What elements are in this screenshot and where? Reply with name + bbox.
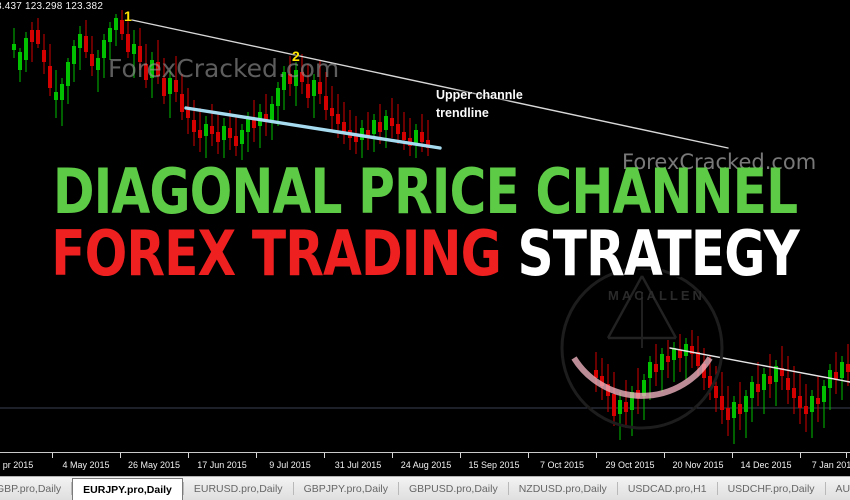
upper-channel-trendline[interactable] — [132, 20, 728, 148]
date-axis-label: 24 Aug 2015 — [401, 460, 452, 470]
candle-body — [204, 124, 208, 136]
candle-body — [600, 376, 604, 386]
chart-tab-label: EURJPY.pro,Daily — [83, 484, 172, 496]
candle-body — [354, 136, 358, 142]
candle-body — [336, 114, 340, 124]
candle-body — [666, 356, 670, 362]
candle-body — [636, 390, 640, 398]
candle-body — [180, 94, 184, 112]
chart-tab-audnzd[interactable]: AUDNZD.pro,Daily — [826, 477, 850, 500]
date-axis-tick — [800, 453, 801, 458]
candle-body — [54, 92, 58, 100]
date-axis-tick — [460, 453, 461, 458]
candle-body — [714, 386, 718, 398]
candle-body — [750, 382, 754, 398]
date-axis-label: 7 Oct 2015 — [540, 460, 584, 470]
chart-tab-gbp[interactable]: GBP.pro,Daily — [0, 477, 71, 500]
date-axis-label: 20 Nov 2015 — [672, 460, 723, 470]
chart-tab-label: AUDNZD.pro,Daily — [836, 483, 850, 495]
chart-tab-bar[interactable]: GBP.pro,DailyEURJPY.pro,DailyEURUSD.pro,… — [0, 476, 850, 500]
candle-body — [276, 88, 280, 106]
candle-body — [402, 132, 406, 140]
candle-body — [642, 380, 646, 396]
trendline-annotation-line-2: trendline — [436, 104, 523, 122]
date-axis-label: 29 Oct 2015 — [605, 460, 654, 470]
chart-tab-gbpusd[interactable]: GBPUSD.pro,Daily — [399, 477, 508, 500]
candle-body — [804, 406, 808, 414]
candle-body — [822, 386, 826, 402]
price-chart-canvas[interactable]: MACALLEN 3.437 123.298 123.382 1 2 Upper… — [0, 0, 850, 452]
candle-body — [228, 128, 232, 138]
date-axis-tick — [528, 453, 529, 458]
date-axis-label: pr 2015 — [3, 460, 34, 470]
wave-point-label-1: 1 — [124, 8, 132, 24]
candle-body — [324, 96, 328, 110]
candle-body — [306, 84, 310, 98]
date-axis-tick — [324, 453, 325, 458]
candle-body — [192, 120, 196, 132]
candle-body — [168, 78, 172, 94]
candle-body — [732, 402, 736, 418]
candle-body — [42, 50, 46, 62]
candle-body — [726, 408, 730, 420]
candle-body — [420, 132, 424, 142]
candle-body — [240, 130, 244, 144]
candlestick-series — [0, 0, 850, 452]
candle-body — [846, 364, 850, 372]
candle-body — [234, 136, 238, 146]
candle-body — [318, 82, 322, 94]
date-axis-label: 31 Jul 2015 — [335, 460, 382, 470]
candle-body — [84, 36, 88, 52]
candle-body — [672, 348, 676, 360]
candle-body — [810, 396, 814, 412]
wave-point-label-2: 2 — [292, 48, 300, 64]
candle-body — [18, 52, 22, 70]
candle-body — [24, 38, 28, 60]
candle-body — [762, 374, 766, 390]
date-axis-tick — [596, 453, 597, 458]
candle-body — [744, 396, 748, 412]
candle-body — [102, 40, 106, 58]
candle-body — [720, 396, 724, 410]
candle-body — [618, 400, 622, 414]
candle-body — [624, 402, 628, 412]
candle-body — [150, 60, 154, 78]
candle-body — [222, 126, 226, 140]
chart-tab-label: USDCAD.pro,H1 — [628, 483, 707, 495]
candle-body — [312, 80, 316, 96]
candle-body — [60, 84, 64, 100]
candle-body — [144, 64, 148, 80]
candle-body — [816, 398, 820, 404]
candle-body — [252, 120, 256, 128]
candle-body — [372, 120, 376, 134]
candle-body — [114, 18, 118, 30]
chart-tab-label: GBPUSD.pro,Daily — [409, 483, 498, 495]
date-axis-label: 9 Jul 2015 — [269, 460, 311, 470]
candle-body — [708, 376, 712, 388]
candle-body — [330, 108, 334, 116]
date-axis-label: 15 Sep 2015 — [468, 460, 519, 470]
ohlc-readout: 3.437 123.298 123.382 — [0, 1, 103, 12]
candle-body — [72, 46, 76, 64]
date-axis-label: 26 May 2015 — [128, 460, 180, 470]
candle-body — [174, 80, 178, 92]
candle-body — [390, 118, 394, 126]
candle-body — [78, 34, 82, 48]
chart-tab-label: GBPJPY.pro,Daily — [304, 483, 388, 495]
candle-body — [702, 364, 706, 378]
date-axis-tick — [188, 453, 189, 458]
chart-tab-nzdusd[interactable]: NZDUSD.pro,Daily — [509, 477, 617, 500]
candle-body — [660, 354, 664, 370]
candle-body — [840, 362, 844, 378]
candle-body — [414, 130, 418, 144]
candle-body — [768, 376, 772, 384]
candle-body — [36, 30, 40, 44]
chart-tab-eurjpy[interactable]: EURJPY.pro,Daily — [72, 478, 183, 500]
date-axis-tick — [846, 453, 847, 458]
candle-body — [756, 384, 760, 392]
date-axis-tick — [52, 453, 53, 458]
trendline-annotation: Upper channle trendline — [436, 86, 523, 122]
chart-tab-label: GBP.pro,Daily — [0, 483, 61, 495]
candle-body — [162, 78, 166, 96]
candle-body — [108, 28, 112, 42]
candle-body — [678, 350, 682, 358]
candle-body — [786, 378, 790, 390]
chart-tab-label: USDCHF.pro,Daily — [728, 483, 815, 495]
candle-body — [630, 392, 634, 410]
date-axis-tick — [392, 453, 393, 458]
candle-body — [186, 110, 190, 118]
candle-body — [126, 34, 130, 52]
candle-body — [90, 54, 94, 66]
chart-tab-label: EURUSD.pro,Daily — [194, 483, 283, 495]
candle-body — [606, 384, 610, 396]
chart-tab-usdcad[interactable]: USDCAD.pro,H1 — [618, 477, 717, 500]
candle-body — [798, 396, 802, 408]
candle-body — [384, 116, 388, 130]
date-axis-label: 14 Dec 2015 — [740, 460, 791, 470]
candle-body — [738, 404, 742, 414]
candle-body — [138, 46, 142, 62]
chart-tab-eurusd[interactable]: EURUSD.pro,Daily — [184, 477, 293, 500]
date-axis-tick — [256, 453, 257, 458]
candle-body — [342, 122, 346, 132]
candle-body — [48, 66, 52, 88]
candle-body — [30, 30, 34, 42]
candle-body — [216, 132, 220, 142]
date-axis-label: 7 Jan 2016 — [812, 460, 850, 470]
candle-body — [282, 72, 286, 90]
candle-body — [156, 62, 160, 76]
date-axis[interactable]: pr 20154 May 201526 May 201517 Jun 20159… — [0, 452, 850, 476]
candle-body — [96, 58, 100, 70]
candle-body — [270, 104, 274, 120]
candle-body — [684, 344, 688, 356]
candle-body — [246, 118, 250, 132]
candle-body — [66, 62, 70, 86]
candle-body — [198, 130, 202, 138]
date-axis-label: 4 May 2015 — [62, 460, 109, 470]
screenshot-root: MACALLEN 3.437 123.298 123.382 1 2 Upper… — [0, 0, 850, 500]
date-axis-tick — [732, 453, 733, 458]
candle-body — [378, 122, 382, 132]
candle-body — [648, 362, 652, 378]
candle-body — [594, 370, 598, 378]
candle-body — [612, 394, 616, 416]
candle-body — [210, 126, 214, 134]
candle-body — [294, 70, 298, 86]
date-axis-tick — [120, 453, 121, 458]
candle-body — [12, 44, 16, 50]
candle-body — [396, 124, 400, 134]
trendline-annotation-line-1: Upper channle — [436, 86, 523, 104]
candle-body — [792, 388, 796, 398]
chart-tab-gbpjpy[interactable]: GBPJPY.pro,Daily — [294, 477, 398, 500]
chart-tab-label: NZDUSD.pro,Daily — [519, 483, 607, 495]
candle-body — [654, 364, 658, 372]
date-axis-tick — [664, 453, 665, 458]
candle-body — [300, 72, 304, 82]
chart-tab-usdchf[interactable]: USDCHF.pro,Daily — [718, 477, 825, 500]
candle-body — [288, 74, 292, 84]
candle-body — [132, 44, 136, 54]
date-axis-label: 17 Jun 2015 — [197, 460, 247, 470]
